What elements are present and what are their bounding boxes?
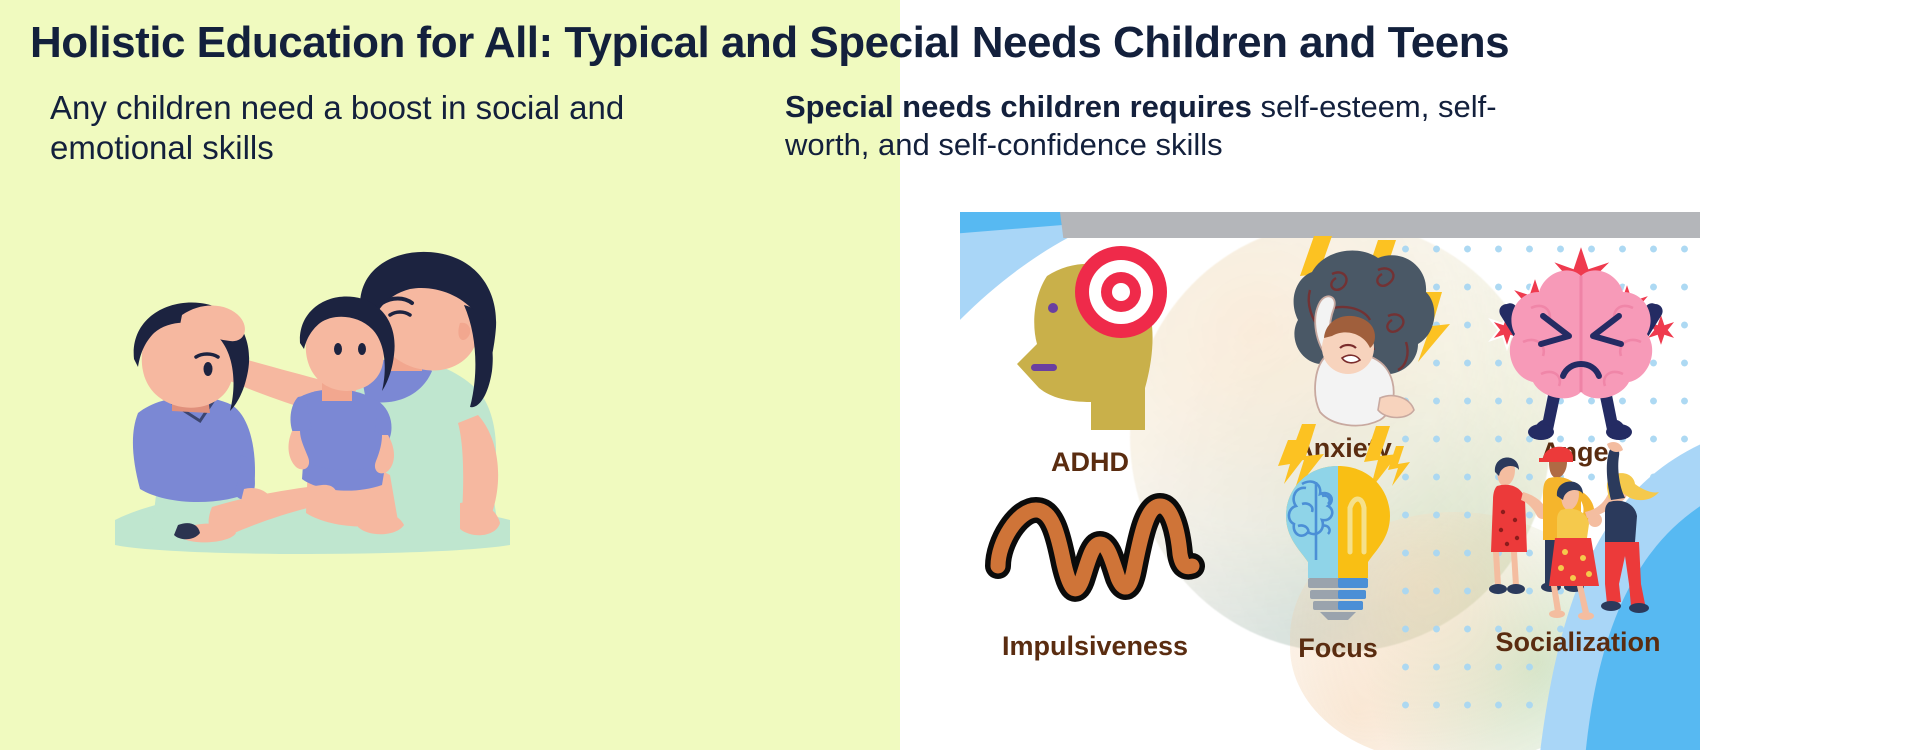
page-title: Holistic Education for All: Typical and … [30, 18, 1509, 68]
icon-cell-adhd[interactable]: ADHD [980, 242, 1200, 478]
caregiver-children-illustration [60, 245, 520, 575]
icon-cell-socialization[interactable]: Socialization [1438, 434, 1700, 658]
left-subhead: Any children need a boost in social and … [50, 88, 690, 169]
brain-lightbulb-icon [1248, 422, 1428, 627]
person-carrying-storm-cloud-icon [1218, 230, 1468, 447]
slide-canvas: Holistic Education for All: Typical and … [0, 0, 1920, 750]
right-subhead: Special needs children requires self-est… [785, 88, 1545, 165]
icon-cell-impulsiveness[interactable]: Impulsiveness [960, 480, 1240, 662]
angry-brain-character-icon [1460, 234, 1700, 447]
group-of-people-icon [1438, 434, 1700, 629]
head-with-target-icon [980, 242, 1200, 447]
icon-label-focus: Focus [1248, 633, 1428, 664]
special-needs-icon-card: ADHD [960, 212, 1700, 750]
icon-cell-anger[interactable]: Anger [1460, 234, 1700, 468]
zigzag-waveform-icon [960, 480, 1240, 625]
icon-label-adhd: ADHD [980, 447, 1200, 478]
right-subhead-bold: Special needs children requires [785, 89, 1252, 124]
icon-label-impulsiveness: Impulsiveness [960, 631, 1240, 662]
icon-cell-focus[interactable]: Focus [1248, 422, 1428, 664]
icon-label-socialization: Socialization [1438, 627, 1700, 658]
